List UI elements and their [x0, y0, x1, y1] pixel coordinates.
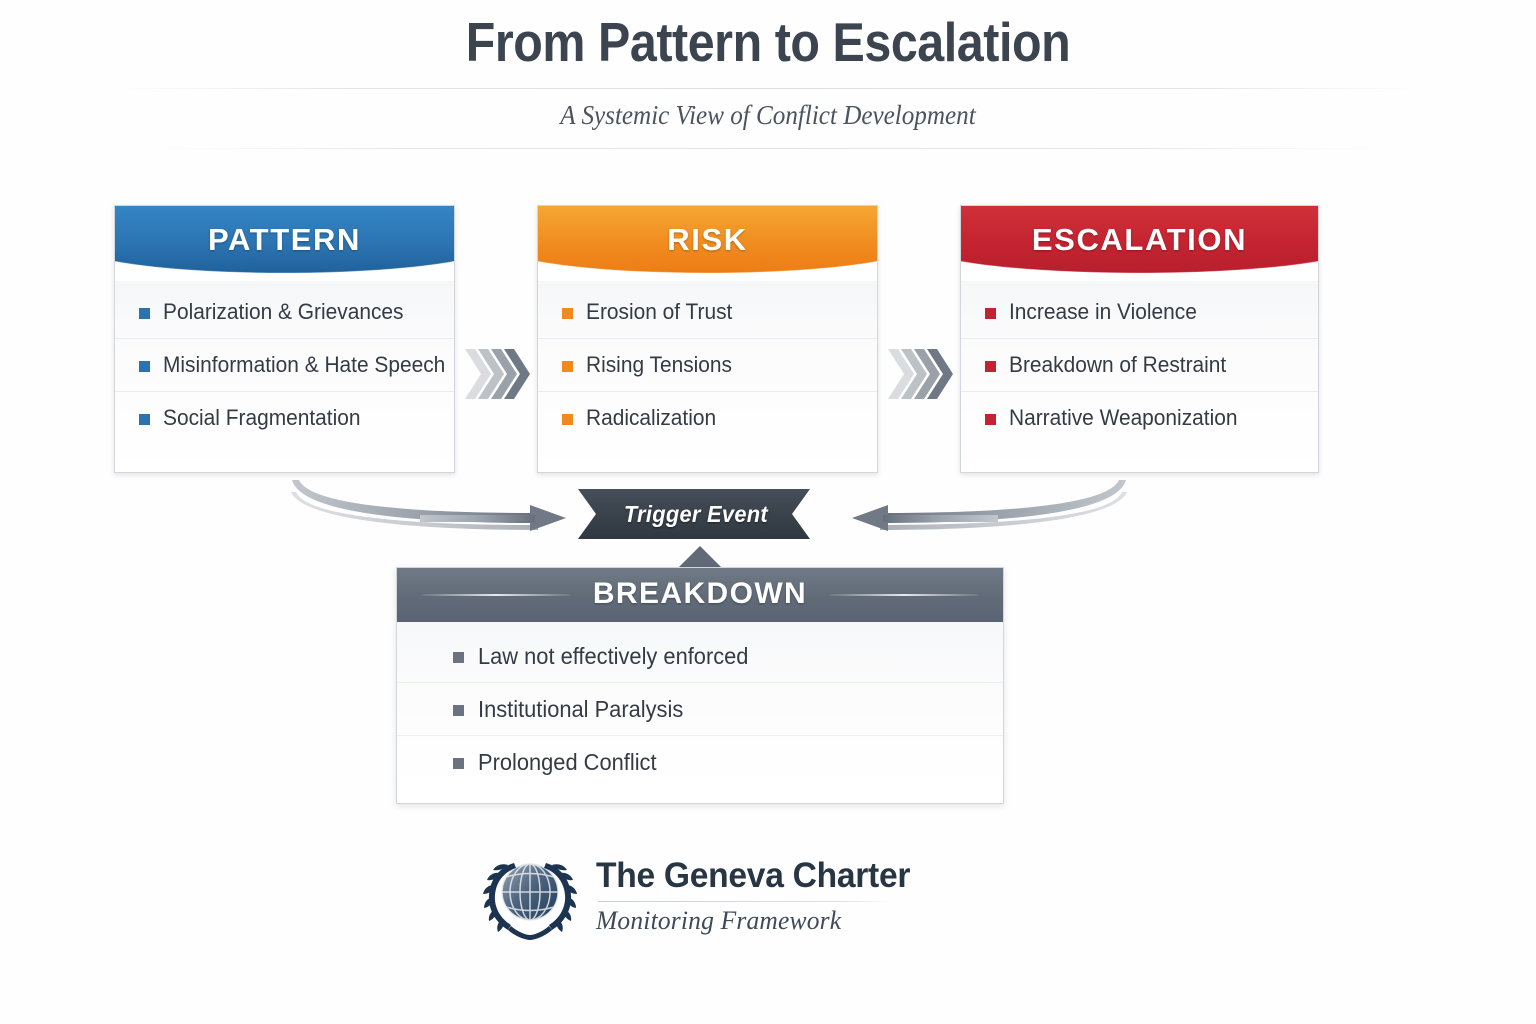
bullet-square-icon — [562, 308, 573, 319]
stage-body-risk: Erosion of Trust Rising Tensions Radical… — [538, 280, 877, 473]
stage-title-escalation: ESCALATION — [1032, 222, 1247, 258]
header-curve-shape — [537, 261, 878, 281]
list-item[interactable]: Narrative Weaponization — [961, 392, 1318, 444]
header-curve-shape — [114, 261, 455, 281]
list-item-label: Increase in Violence — [1009, 299, 1197, 325]
stage-card-escalation[interactable]: ESCALATION Increase in Violence Breakdow… — [960, 205, 1319, 473]
bullet-square-icon — [985, 361, 996, 372]
bullet-square-icon — [985, 308, 996, 319]
header-rule-right — [829, 594, 979, 596]
stage-card-risk[interactable]: RISK Erosion of Trust Rising Tensions Ra… — [537, 205, 878, 473]
stage-body-escalation: Increase in Violence Breakdown of Restra… — [961, 280, 1318, 473]
list-item[interactable]: Erosion of Trust — [538, 286, 877, 339]
list-item-label: Erosion of Trust — [586, 299, 732, 325]
subtitle-divider — [156, 148, 1381, 149]
list-item-label: Prolonged Conflict — [478, 749, 657, 776]
list-item-label: Breakdown of Restraint — [1009, 352, 1226, 378]
organization-logo: The Geneva Charter Monitoring Framework — [478, 845, 908, 945]
arrow-left-to-trigger — [291, 480, 566, 531]
list-item-label: Social Fragmentation — [163, 405, 360, 431]
list-item-label: Rising Tensions — [586, 352, 732, 378]
breakdown-header: BREAKDOWN — [397, 568, 1003, 622]
list-item[interactable]: Rising Tensions — [538, 339, 877, 392]
chevron-connector-icon — [463, 341, 535, 407]
list-item[interactable]: Institutional Paralysis — [397, 683, 1003, 736]
bullet-square-icon — [562, 414, 573, 425]
list-item-label: Radicalization — [586, 405, 716, 431]
list-item-label: Misinformation & Hate Speech — [163, 352, 445, 378]
stage-header-escalation: ESCALATION — [961, 206, 1318, 280]
trigger-event-badge[interactable]: Trigger Event — [578, 489, 810, 539]
page-title: From Pattern to Escalation — [92, 14, 1444, 72]
stage-body-pattern: Polarization & Grievances Misinformation… — [115, 280, 454, 473]
list-item[interactable]: Law not effectively enforced — [397, 630, 1003, 683]
list-item[interactable]: Increase in Violence — [961, 286, 1318, 339]
title-divider — [113, 88, 1423, 89]
list-item[interactable]: Prolonged Conflict — [397, 736, 1003, 788]
bullet-square-icon — [453, 705, 464, 716]
logo-text-block: The Geneva Charter Monitoring Framework — [596, 854, 923, 936]
bullet-square-icon — [139, 361, 150, 372]
list-item[interactable]: Polarization & Grievances — [115, 286, 454, 339]
breakdown-title: BREAKDOWN — [571, 577, 829, 611]
globe-laurel-icon — [478, 845, 582, 945]
stage-title-pattern: PATTERN — [208, 222, 361, 258]
bullet-square-icon — [139, 414, 150, 425]
list-item-label: Narrative Weaponization — [1009, 405, 1237, 431]
list-item-label: Institutional Paralysis — [478, 696, 683, 723]
breakdown-panel[interactable]: BREAKDOWN Law not effectively enforced I… — [396, 567, 1004, 804]
list-item[interactable]: Breakdown of Restraint — [961, 339, 1318, 392]
logo-divider — [598, 901, 890, 902]
organization-name: The Geneva Charter — [596, 856, 910, 896]
header-rule-left — [421, 594, 571, 596]
bullet-square-icon — [453, 652, 464, 663]
bullet-square-icon — [453, 758, 464, 769]
breakdown-body: Law not effectively enforced Institution… — [397, 622, 1003, 788]
bullet-square-icon — [562, 361, 573, 372]
stage-card-pattern[interactable]: PATTERN Polarization & Grievances Misinf… — [114, 205, 455, 473]
stage-header-risk: RISK — [538, 206, 877, 280]
title-block: From Pattern to Escalation A Systemic Vi… — [0, 14, 1536, 149]
header-curve-shape — [960, 261, 1319, 281]
organization-tagline: Monitoring Framework — [596, 906, 917, 936]
list-item[interactable]: Social Fragmentation — [115, 392, 454, 444]
list-item[interactable]: Misinformation & Hate Speech — [115, 339, 454, 392]
arrow-right-to-trigger — [852, 480, 1127, 531]
bullet-square-icon — [139, 308, 150, 319]
stage-title-risk: RISK — [667, 222, 747, 258]
list-item-label: Polarization & Grievances — [163, 299, 403, 325]
trigger-event-label: Trigger Event — [586, 489, 806, 539]
bullet-square-icon — [985, 414, 996, 425]
chevron-connector-icon — [886, 341, 958, 407]
list-item[interactable]: Radicalization — [538, 392, 877, 444]
list-item-label: Law not effectively enforced — [478, 643, 748, 670]
page-subtitle: A Systemic View of Conflict Development — [54, 100, 1482, 131]
stage-header-pattern: PATTERN — [115, 206, 454, 280]
